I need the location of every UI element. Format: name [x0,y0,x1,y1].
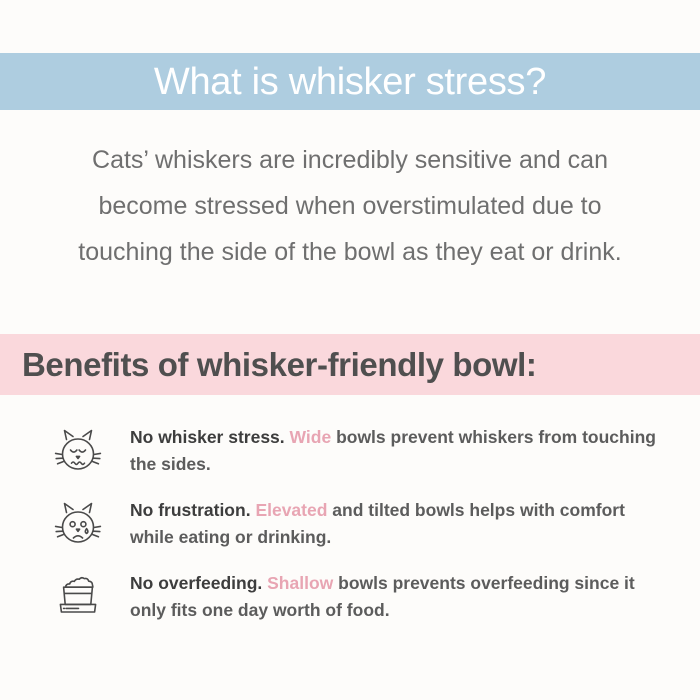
whisker-stress-paragraph: Cats’ whiskers are incredibly sensitive … [0,137,700,275]
benefit-text: No frustration. Elevated and tilted bowl… [130,497,670,551]
benefit-text: No whisker stress. Wide bowls prevent wh… [130,424,670,478]
paragraph-line-2: become stressed when overstimulated due … [0,183,700,229]
benefits-banner: Benefits of whisker-friendly bowl: [0,334,700,395]
benefit-lead: No frustration. [130,500,251,520]
benefit-accent: Shallow [267,573,333,593]
benefit-accent: Wide [290,427,332,447]
benefit-text: No overfeeding. Shallow bowls prevents o… [130,570,670,624]
cat-face-crying-icon [48,497,108,552]
food-bowl-icon [48,570,108,619]
list-item: No overfeeding. Shallow bowls prevents o… [0,570,700,624]
benefits-title: Benefits of whisker-friendly bowl: [0,348,536,381]
benefits-list: No whisker stress. Wide bowls prevent wh… [0,424,700,642]
whisker-stress-banner: What is whisker stress? [0,53,700,110]
whisker-stress-title: What is whisker stress? [154,63,546,101]
benefit-accent: Elevated [255,500,327,520]
cat-face-squinting-icon [48,424,108,479]
list-item: No whisker stress. Wide bowls prevent wh… [0,424,700,479]
paragraph-line-3: touching the side of the bowl as they ea… [0,229,700,275]
benefit-lead: No whisker stress. [130,427,285,447]
paragraph-line-1: Cats’ whiskers are incredibly sensitive … [0,137,700,183]
benefit-lead: No overfeeding. [130,573,262,593]
list-item: No frustration. Elevated and tilted bowl… [0,497,700,552]
